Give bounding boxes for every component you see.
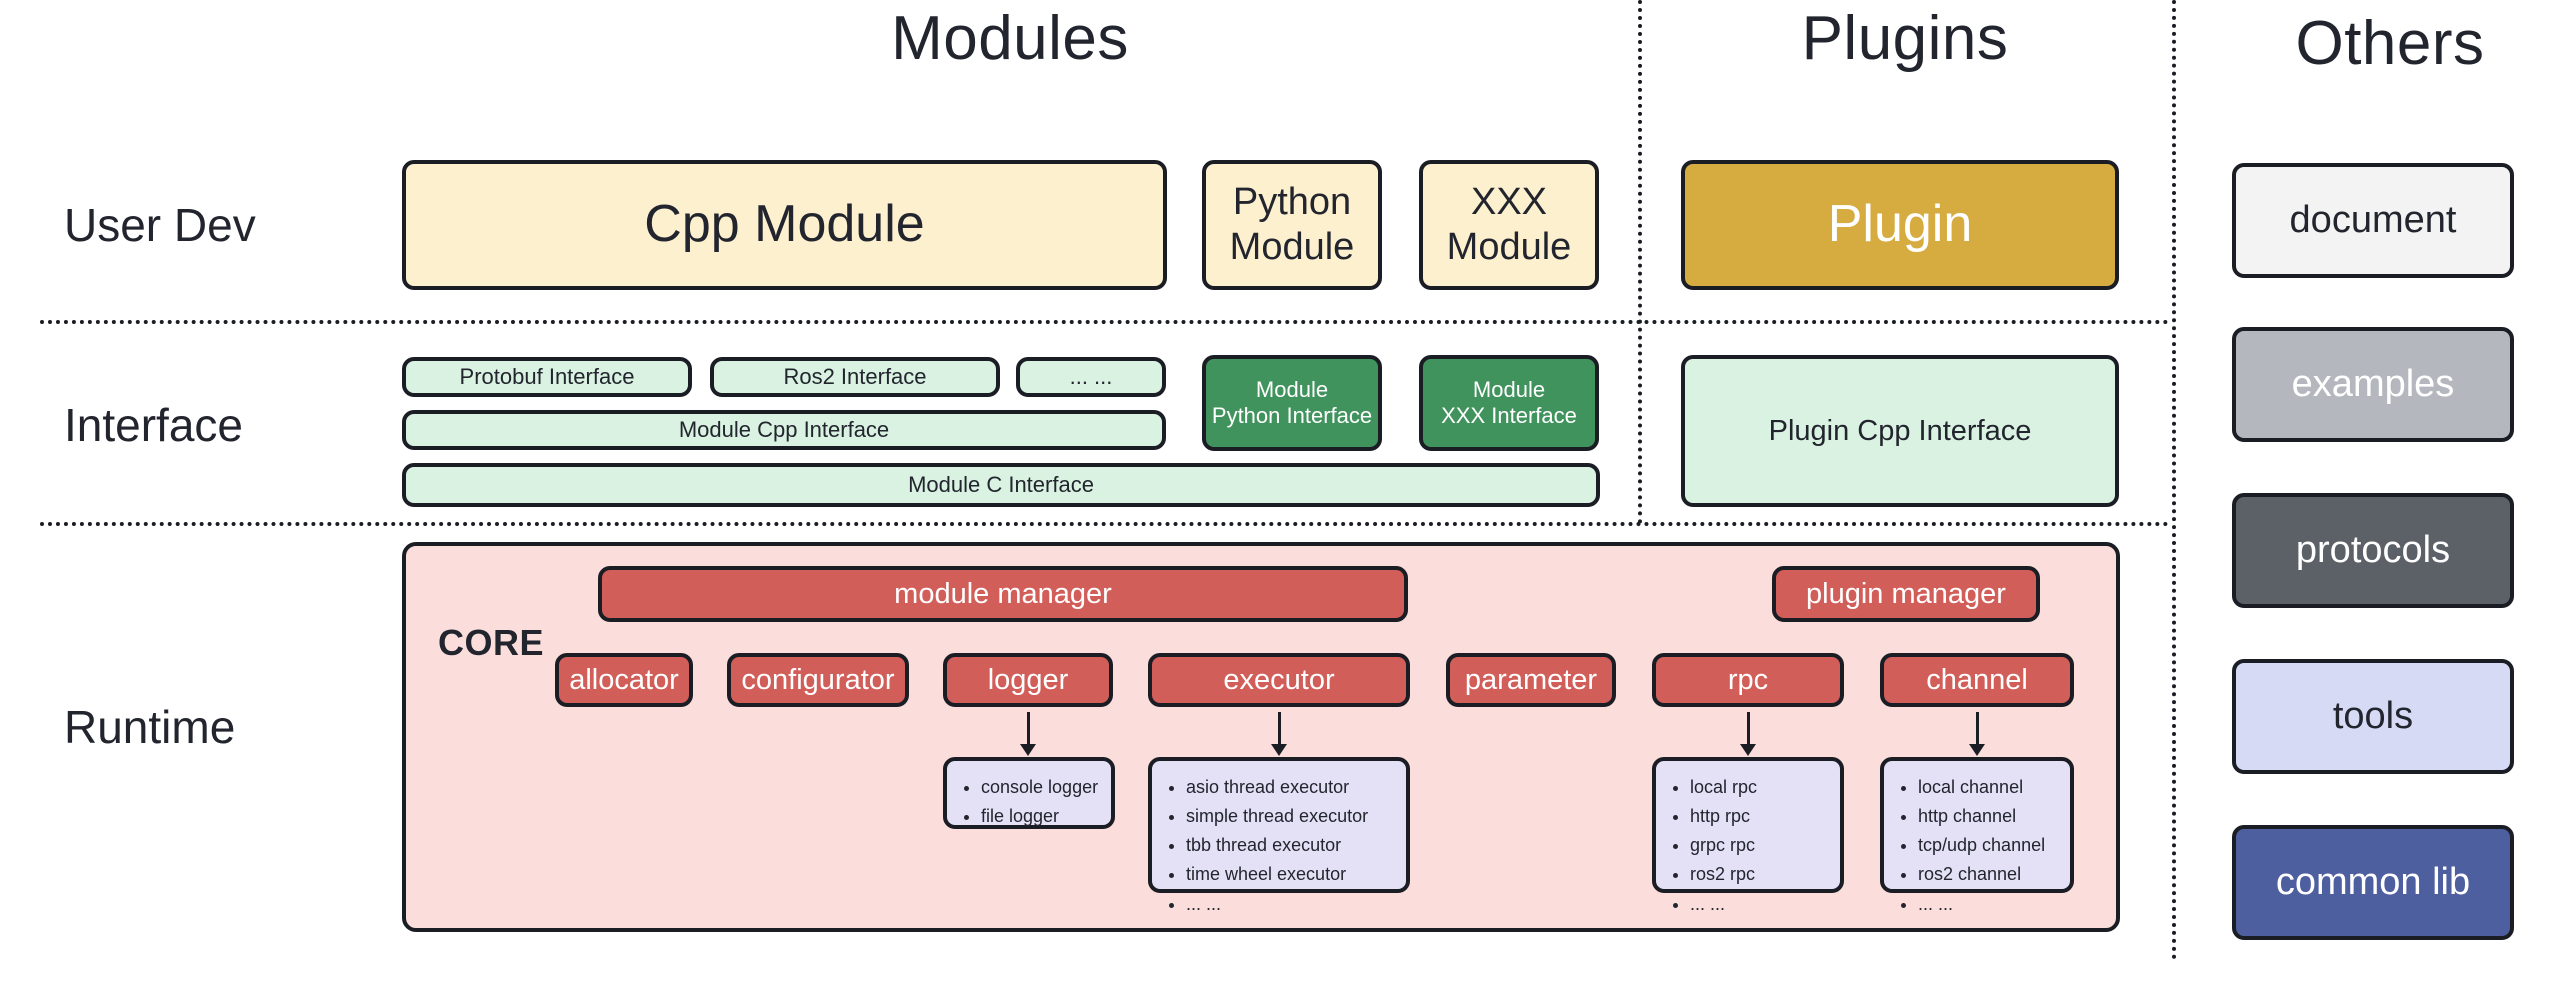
module-python-interface-label-line1: Module	[1256, 377, 1328, 403]
component-executor-label: executor	[1223, 663, 1334, 697]
more-interface-label: ... ...	[1070, 364, 1113, 390]
more-interface-box[interactable]: ... ...	[1016, 357, 1166, 397]
logger-details-list: console logger file logger	[955, 773, 1101, 831]
divider-plugins-others	[2172, 0, 2176, 960]
component-configurator[interactable]: configurator	[727, 653, 909, 707]
list-item: http rpc	[1690, 802, 1830, 831]
python-module-label-line1: Python	[1233, 180, 1351, 225]
rpc-details-list: local rpc http rpc grpc rpc ros2 rpc ...…	[1664, 773, 1830, 919]
list-item: grpc rpc	[1690, 831, 1830, 860]
others-item-tools[interactable]: tools	[2232, 659, 2514, 774]
arrow-rpc-to-details	[1736, 712, 1760, 756]
component-channel[interactable]: channel	[1880, 653, 2074, 707]
list-item: ... ...	[1186, 890, 1396, 919]
row-label-interface: Interface	[64, 398, 243, 452]
others-item-common-lib[interactable]: common lib	[2232, 825, 2514, 940]
plugin-label: Plugin	[1828, 194, 1973, 255]
module-c-interface-label: Module C Interface	[908, 472, 1094, 498]
plugin-manager-box[interactable]: plugin manager	[1772, 566, 2040, 622]
column-title-modules: Modules	[780, 3, 1240, 74]
ros2-interface-label: Ros2 Interface	[783, 364, 926, 390]
others-item-tools-label: tools	[2333, 694, 2413, 739]
component-parameter[interactable]: parameter	[1446, 653, 1616, 707]
executor-details-box: asio thread executor simple thread execu…	[1148, 757, 1410, 893]
protobuf-interface-box[interactable]: Protobuf Interface	[402, 357, 692, 397]
component-logger[interactable]: logger	[943, 653, 1113, 707]
component-rpc[interactable]: rpc	[1652, 653, 1844, 707]
xxx-module-box[interactable]: XXX Module	[1419, 160, 1599, 290]
others-item-examples-label: examples	[2292, 362, 2455, 407]
list-item: time wheel executor	[1186, 860, 1396, 889]
list-item: tcp/udp channel	[1918, 831, 2060, 860]
list-item: http channel	[1918, 802, 2060, 831]
divider-userdev-interface	[40, 320, 2170, 324]
module-python-interface-box[interactable]: Module Python Interface	[1202, 355, 1382, 451]
component-logger-label: logger	[988, 663, 1069, 697]
list-item: local channel	[1918, 773, 2060, 802]
component-allocator[interactable]: allocator	[555, 653, 693, 707]
channel-details-box: local channel http channel tcp/udp chann…	[1880, 757, 2074, 893]
list-item: asio thread executor	[1186, 773, 1396, 802]
xxx-module-label-line2: Module	[1447, 225, 1572, 270]
component-configurator-label: configurator	[741, 663, 894, 697]
ros2-interface-box[interactable]: Ros2 Interface	[710, 357, 1000, 397]
component-parameter-label: parameter	[1465, 663, 1597, 697]
others-item-protocols-label: protocols	[2296, 528, 2450, 573]
list-item: simple thread executor	[1186, 802, 1396, 831]
list-item: local rpc	[1690, 773, 1830, 802]
arrow-executor-to-details	[1267, 712, 1291, 756]
protobuf-interface-label: Protobuf Interface	[460, 364, 635, 390]
divider-modules-plugins	[1638, 0, 1642, 524]
list-item: ... ...	[1690, 890, 1830, 919]
cpp-module-box[interactable]: Cpp Module	[402, 160, 1167, 290]
plugin-cpp-interface-box[interactable]: Plugin Cpp Interface	[1681, 355, 2119, 507]
module-cpp-interface-label: Module Cpp Interface	[679, 417, 889, 443]
component-rpc-label: rpc	[1728, 663, 1768, 697]
row-label-user-dev: User Dev	[64, 198, 256, 252]
module-xxx-interface-box[interactable]: Module XXX Interface	[1419, 355, 1599, 451]
rpc-details-box: local rpc http rpc grpc rpc ros2 rpc ...…	[1652, 757, 1844, 893]
others-item-common-lib-label: common lib	[2276, 860, 2470, 905]
python-module-label-line2: Module	[1230, 225, 1355, 270]
executor-details-list: asio thread executor simple thread execu…	[1160, 773, 1396, 919]
column-title-plugins: Plugins	[1670, 3, 2140, 74]
plugin-cpp-interface-label: Plugin Cpp Interface	[1769, 414, 2032, 448]
python-module-box[interactable]: Python Module	[1202, 160, 1382, 290]
column-title-others: Others	[2230, 8, 2550, 79]
list-item: ros2 channel	[1918, 860, 2060, 889]
others-item-document-label: document	[2290, 198, 2457, 243]
component-executor[interactable]: executor	[1148, 653, 1410, 707]
list-item: file logger	[981, 802, 1101, 831]
plugin-manager-label: plugin manager	[1806, 577, 2006, 611]
others-item-document[interactable]: document	[2232, 163, 2514, 278]
module-xxx-interface-label-line2: XXX Interface	[1441, 403, 1577, 429]
others-item-examples[interactable]: examples	[2232, 327, 2514, 442]
channel-details-list: local channel http channel tcp/udp chann…	[1892, 773, 2060, 919]
divider-interface-runtime	[40, 522, 2170, 526]
xxx-module-label-line1: XXX	[1471, 180, 1547, 225]
list-item: console logger	[981, 773, 1101, 802]
logger-details-box: console logger file logger	[943, 757, 1115, 829]
arrow-logger-to-details	[1016, 712, 1040, 756]
cpp-module-label: Cpp Module	[644, 194, 924, 255]
module-cpp-interface-box[interactable]: Module Cpp Interface	[402, 410, 1166, 450]
plugin-box[interactable]: Plugin	[1681, 160, 2119, 290]
list-item: tbb thread executor	[1186, 831, 1396, 860]
module-manager-label: module manager	[894, 577, 1112, 611]
row-label-runtime: Runtime	[64, 700, 235, 754]
component-channel-label: channel	[1926, 663, 2028, 697]
architecture-diagram: Modules Plugins Others User Dev Interfac…	[0, 0, 2560, 984]
arrow-channel-to-details	[1965, 712, 1989, 756]
module-python-interface-label-line2: Python Interface	[1212, 403, 1372, 429]
list-item: ros2 rpc	[1690, 860, 1830, 889]
module-c-interface-box[interactable]: Module C Interface	[402, 463, 1600, 507]
module-manager-box[interactable]: module manager	[598, 566, 1408, 622]
component-allocator-label: allocator	[569, 663, 679, 697]
core-label: CORE	[438, 622, 544, 664]
others-item-protocols[interactable]: protocols	[2232, 493, 2514, 608]
list-item: ... ...	[1918, 890, 2060, 919]
module-xxx-interface-label-line1: Module	[1473, 377, 1545, 403]
